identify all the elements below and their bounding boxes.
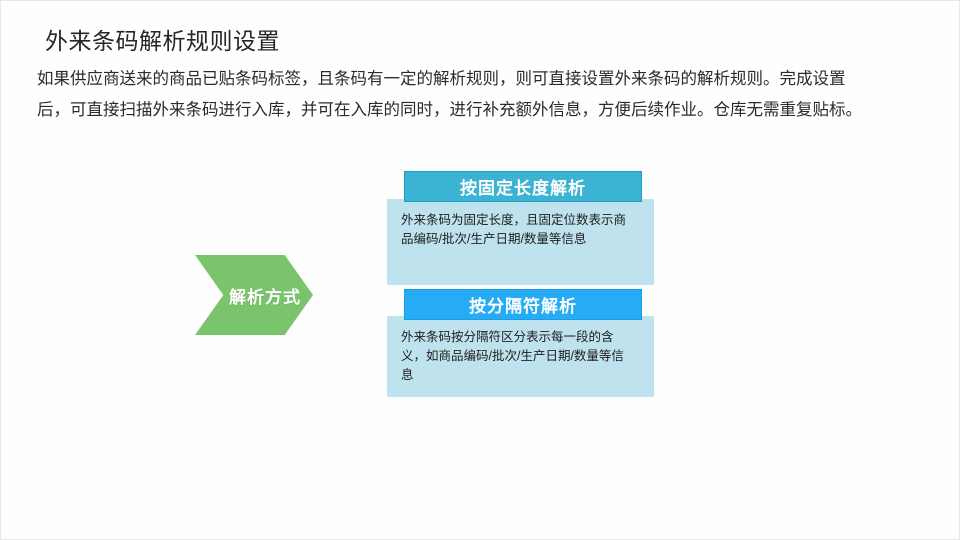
parse-method-chevron: 解析方式 — [195, 255, 313, 335]
page-title: 外来条码解析规则设置 — [45, 26, 280, 56]
description-paragraph: 如果供应商送来的商品已贴条码标签，且条码有一定的解析规则，则可直接设置外来条码的… — [37, 64, 933, 126]
parse-method-chevron-label: 解析方式 — [207, 283, 301, 308]
card-delimiter-header: 按分隔符解析 — [404, 289, 642, 320]
card-fixed-length-header: 按固定长度解析 — [404, 171, 642, 202]
card-fixed-length-body: 外来条码为固定长度，且固定位数表示商品编码/批次/生产日期/数量等信息 — [401, 211, 633, 249]
card-delimiter-body: 外来条码按分隔符区分表示每一段的含义，如商品编码/批次/生产日期/数量等信息 — [401, 328, 633, 385]
description-line-2: 后，可直接扫描外来条码进行入库，并可在入库的同时，进行补充额外信息，方便后续作业… — [37, 95, 933, 126]
slide-canvas: 外来条码解析规则设置 如果供应商送来的商品已贴条码标签，且条码有一定的解析规则，… — [0, 0, 960, 540]
description-line-1: 如果供应商送来的商品已贴条码标签，且条码有一定的解析规则，则可直接设置外来条码的… — [37, 64, 933, 95]
